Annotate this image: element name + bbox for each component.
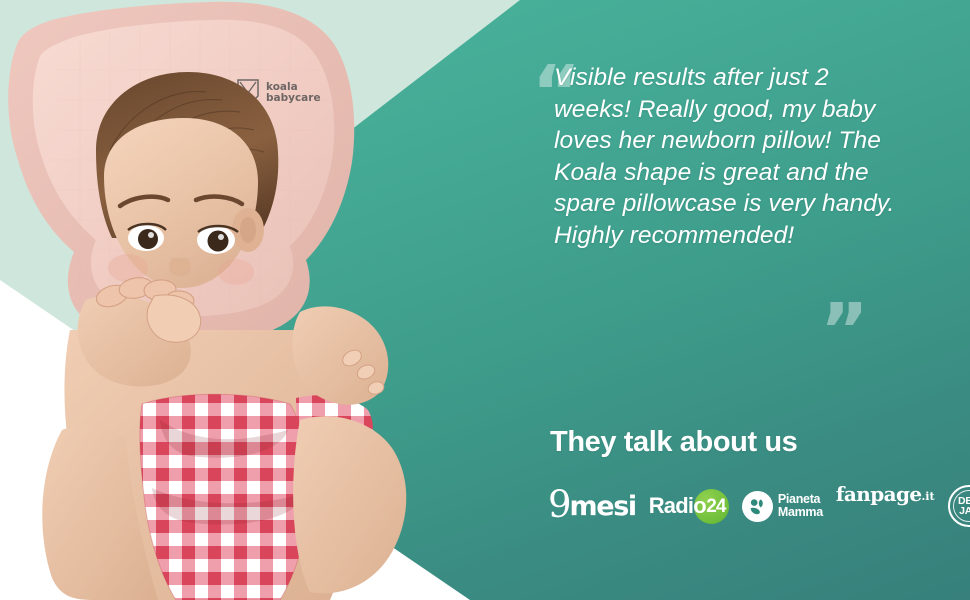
logo-fanpage-suffix: .it — [921, 491, 934, 502]
logo-fanpage-word: fanpage — [836, 484, 922, 504]
logo-radio24[interactable]: Radio 24 — [649, 484, 729, 528]
deejay-line2: JAY — [959, 505, 970, 517]
pianeta-mamma-icon — [742, 491, 773, 522]
logo-fanpage[interactable]: fanpage.it — [836, 484, 935, 528]
pianeta-mamma-line1: Pianeta — [778, 492, 820, 506]
pianeta-mamma-label: Pianeta Mamma — [778, 493, 823, 519]
deejay-label: DEE JAY — [958, 496, 970, 517]
pianeta-mamma-line2: Mamma — [778, 505, 823, 519]
testimonial-content: “ Visible results after just 2 weeks! Re… — [530, 0, 970, 600]
logo-deejay[interactable]: DEE JAY — [948, 485, 970, 527]
quote-block: “ Visible results after just 2 weeks! Re… — [530, 62, 910, 251]
logo-9mesi-numeral: 9 — [548, 486, 570, 523]
logo-9mesi[interactable]: 9mesi — [548, 484, 636, 528]
press-heading: They talk about us — [550, 426, 797, 459]
logo-9mesi-word: mesi — [570, 493, 636, 520]
logo-radio24-word: Radio — [649, 495, 706, 517]
baby-photo: koala babycare — [0, 0, 440, 600]
press-logo-row: 9mesi Radio 24 Pianeta Mam — [548, 482, 970, 530]
quote-close-icon: ” — [820, 294, 867, 368]
svg-text:babycare: babycare — [266, 92, 321, 104]
quote-text: Visible results after just 2 weeks! Real… — [554, 62, 900, 251]
logo-pianeta-mamma[interactable]: Pianeta Mamma — [742, 484, 823, 528]
testimonial-banner: koala babycare — [0, 0, 970, 600]
